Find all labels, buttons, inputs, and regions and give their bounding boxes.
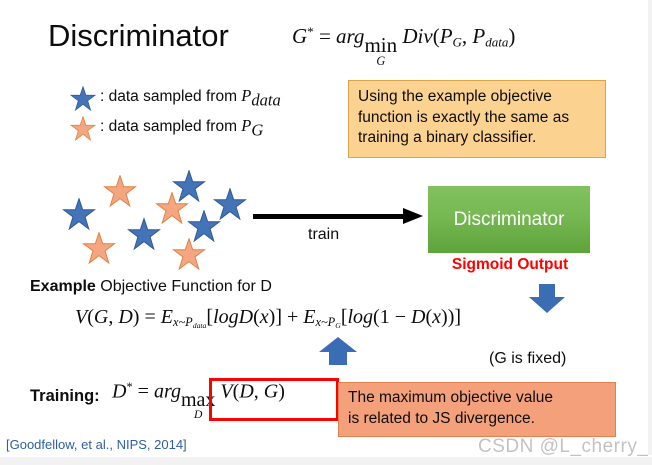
formula-min-operator: minG	[364, 36, 397, 67]
title-formula: G* = argminG Div(PG, Pdata)	[292, 24, 515, 67]
formula-comma: ,	[462, 24, 467, 48]
train-d: D	[112, 380, 126, 402]
red-highlight-box	[209, 378, 339, 421]
blue-star-icon	[62, 198, 96, 230]
formula-lhs-star: *	[307, 24, 314, 39]
legend-item-pdata: : data sampled from Pdata	[70, 86, 281, 111]
obj-minus: −	[395, 306, 406, 328]
blue-star-icon	[187, 210, 221, 242]
citation-reference: [Goodfellow, et al., NIPS, 2014]	[6, 437, 187, 452]
obj-e1-subsub: data	[193, 322, 207, 331]
train-arrow-label: train	[308, 226, 339, 244]
discriminator-box-label: Discriminator	[454, 209, 565, 231]
orange-star-icon	[103, 175, 137, 207]
discriminator-box[interactable]: Discriminator	[428, 186, 590, 253]
formula-paren-open: (	[433, 24, 440, 48]
training-label: Training:	[30, 387, 100, 406]
slide-canvas: Discriminator G* = argminG Div(PG, Pdata…	[0, 0, 652, 465]
page-title: Discriminator	[48, 18, 229, 54]
legend-label-pdata: : data sampled from Pdata	[100, 86, 281, 111]
down-arrow-icon	[528, 284, 566, 314]
objective-function-formula: V(G, D) = Ex~Pdata[logD(x)] + Ex~PG[log(…	[75, 306, 461, 331]
callout-orange: The maximum objective value is related t…	[338, 382, 616, 437]
formula-p2-sub: data	[485, 35, 508, 50]
blue-star-icon	[127, 218, 161, 250]
obj-close1: )	[133, 306, 140, 328]
legend-label-pg: : data sampled from PG	[100, 116, 263, 141]
obj-br1close: ]	[275, 306, 282, 328]
obj-d1: D	[239, 306, 253, 328]
example-objective-heading: Example Objective Function for D	[30, 278, 272, 296]
formula-p1-sub: G	[453, 35, 462, 50]
obj-equals: =	[144, 306, 155, 328]
obj-e1-sub: x~Pdata	[173, 315, 206, 329]
train-arrow-head-icon	[403, 208, 423, 224]
example-heading-rest: Objective Function for D	[96, 278, 272, 295]
callout-yellow-line-1: Using the example objective	[358, 87, 596, 108]
g-is-fixed-note: (G is fixed)	[489, 350, 566, 368]
obj-d: D	[118, 306, 132, 328]
obj-comma1: ,	[108, 306, 113, 328]
obj-x2close: )	[441, 306, 448, 328]
obj-x1: x	[260, 306, 269, 328]
formula-paren-close: )	[508, 24, 515, 48]
legend-symbol-p2: P	[241, 116, 251, 135]
callout-yellow: Using the example objective function is …	[348, 80, 606, 158]
obj-e2-sub: x~PG	[315, 315, 340, 329]
blue-star-icon	[70, 86, 96, 111]
max-op-subscript: D	[194, 409, 202, 421]
obj-x1open: (	[253, 306, 260, 328]
obj-open1: (	[87, 306, 94, 328]
train-equals: =	[138, 380, 149, 402]
callout-yellow-line-3: training a binary classifier.	[358, 128, 596, 149]
slide-edge-right	[648, 0, 652, 455]
csdn-watermark: CSDN @L_cherry_	[478, 436, 648, 458]
obj-log2: log	[347, 306, 373, 328]
obj-log1: log	[213, 306, 239, 328]
orange-star-icon	[155, 192, 189, 224]
obj-x2: x	[432, 306, 441, 328]
obj-g: G	[94, 306, 108, 328]
callout-yellow-line-2: function is exactly the same as	[358, 108, 596, 129]
formula-div: Div	[402, 24, 432, 48]
legend-symbol-sub2: G	[251, 121, 263, 140]
obj-e2: E	[303, 306, 315, 328]
formula-p1: P	[440, 24, 453, 48]
formula-p2: P	[472, 24, 485, 48]
obj-br2close: ]	[454, 306, 461, 328]
min-op-label: min	[364, 36, 397, 56]
formula-arg: arg	[336, 24, 364, 48]
blue-star-icon	[213, 188, 247, 220]
legend-symbol-p: P	[241, 86, 251, 105]
up-arrow-icon	[318, 337, 358, 366]
legend-symbol-sub: data	[251, 91, 280, 110]
orange-star-icon	[82, 232, 116, 264]
formula-lhs: G	[292, 24, 307, 48]
callout-orange-line-1: The maximum objective value	[348, 388, 606, 409]
formula-equals: =	[319, 24, 331, 48]
orange-star-icon	[70, 116, 96, 141]
obj-plus: +	[287, 306, 298, 328]
min-op-subscript: G	[376, 55, 385, 67]
blue-star-icon	[172, 170, 206, 202]
train-arg: arg	[154, 380, 181, 402]
obj-v: V	[75, 306, 87, 328]
legend-item-pg: : data sampled from PG	[70, 116, 263, 141]
obj-one: 1	[380, 306, 390, 328]
sigmoid-output-label: Sigmoid Output	[432, 256, 588, 274]
orange-star-icon	[172, 238, 206, 270]
slide-edge-bottom	[0, 457, 652, 465]
callout-orange-line-2: is related to JS divergence.	[348, 409, 606, 430]
obj-p2open: (	[373, 306, 380, 328]
train-d-star: *	[126, 380, 132, 394]
example-heading-bold: Example	[30, 278, 96, 295]
obj-e1: E	[161, 306, 173, 328]
obj-d2: D	[411, 306, 425, 328]
train-arrow-shaft	[253, 214, 405, 219]
